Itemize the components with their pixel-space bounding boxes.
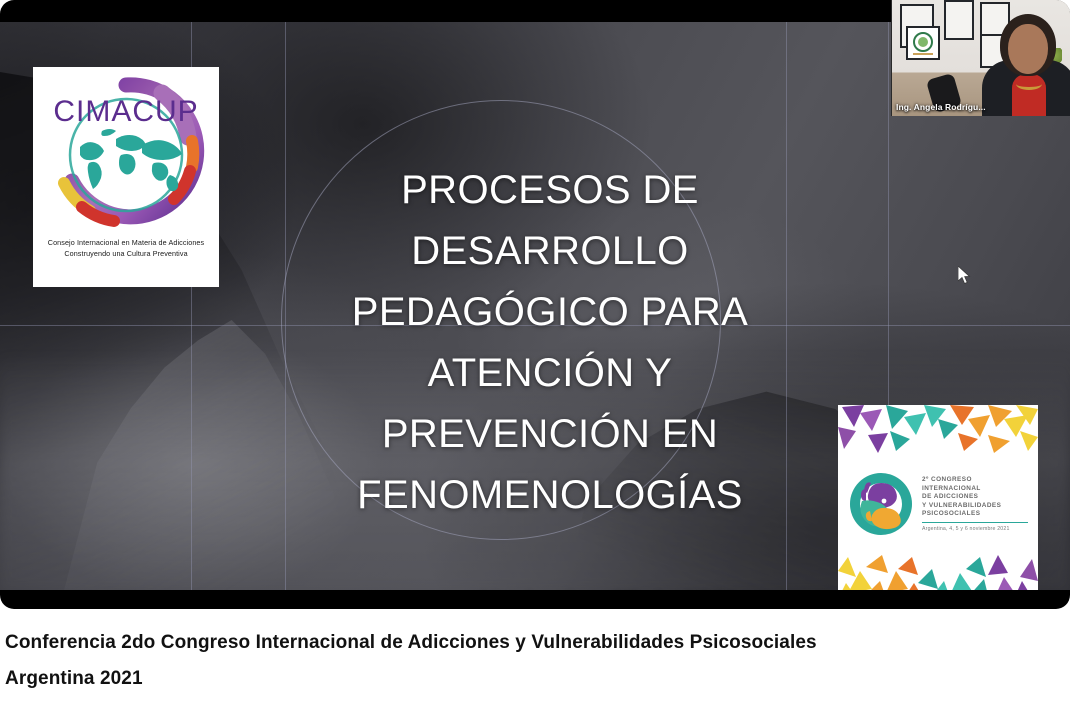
poster-shards-bottom (838, 551, 1038, 590)
poster-line-1: 2º CONGRESO (922, 476, 1032, 485)
webcam-overlay[interactable]: Ing. Angela Rodrígu... (891, 0, 1070, 116)
slide-title-line-2: DESARROLLO (300, 221, 800, 282)
poster-text-block: 2º CONGRESO INTERNACIONAL DE ADICCIONES … (922, 476, 1032, 532)
wall-frame-3 (944, 0, 974, 40)
wall-frame-2 (906, 26, 940, 60)
slide-title-line-5: PREVENCIÓN EN (300, 404, 800, 465)
participant-necklace (1016, 78, 1042, 90)
slide-title-line-3: PEDAGÓGICO PARA (300, 282, 800, 343)
cimacup-tagline-line2: Construyendo una Cultura Preventiva (33, 248, 219, 259)
poster-subtitle: Argentina, 4, 5 y 6 noviembre 2021 (922, 526, 1032, 532)
poster-line-3: DE ADICCIONES (922, 493, 1032, 502)
participant-video (980, 12, 1070, 116)
poster-line-4: Y VULNERABILIDADES (922, 502, 1032, 511)
participant-face (1008, 24, 1048, 74)
slide-title: PROCESOS DE DESARROLLO PEDAGÓGICO PARA A… (300, 160, 800, 526)
slide-title-line-1: PROCESOS DE (300, 160, 800, 221)
poster-line-5: PSICOSOCIALES (922, 510, 1032, 519)
cimacup-emblem-icon: CIMACUP (42, 71, 210, 237)
caption-line-1: Conferencia 2do Congreso Internacional d… (5, 625, 1015, 661)
poster-line-2: INTERNACIONAL (922, 485, 1032, 494)
poster-body: 2º CONGRESO INTERNACIONAL DE ADICCIONES … (838, 457, 1038, 551)
poster-shards-top (838, 405, 1038, 457)
video-page: CIMACUP Consejo Internacional en Materia… (0, 0, 1070, 702)
hands-logo-icon (844, 467, 918, 541)
slide-date: Noviembre 05 de 2021 (400, 587, 820, 590)
congress-poster: 2º CONGRESO INTERNACIONAL DE ADICCIONES … (838, 405, 1038, 590)
cimacup-tagline-line1: Consejo Internacional en Materia de Adic… (33, 237, 219, 248)
poster-divider (922, 522, 1028, 523)
participant-name-label: Ing. Angela Rodrígu... (896, 102, 986, 112)
video-caption: Conferencia 2do Congreso Internacional d… (5, 625, 1015, 697)
slide-title-line-6: FENOMENOLOGÍAS (300, 465, 800, 526)
slide-title-line-4: ATENCIÓN Y (300, 343, 800, 404)
video-player[interactable]: CIMACUP Consejo Internacional en Materia… (0, 0, 1070, 609)
svg-text:CIMACUP: CIMACUP (53, 95, 198, 128)
caption-line-2: Argentina 2021 (5, 661, 1015, 697)
cimacup-logo: CIMACUP Consejo Internacional en Materia… (33, 67, 219, 287)
